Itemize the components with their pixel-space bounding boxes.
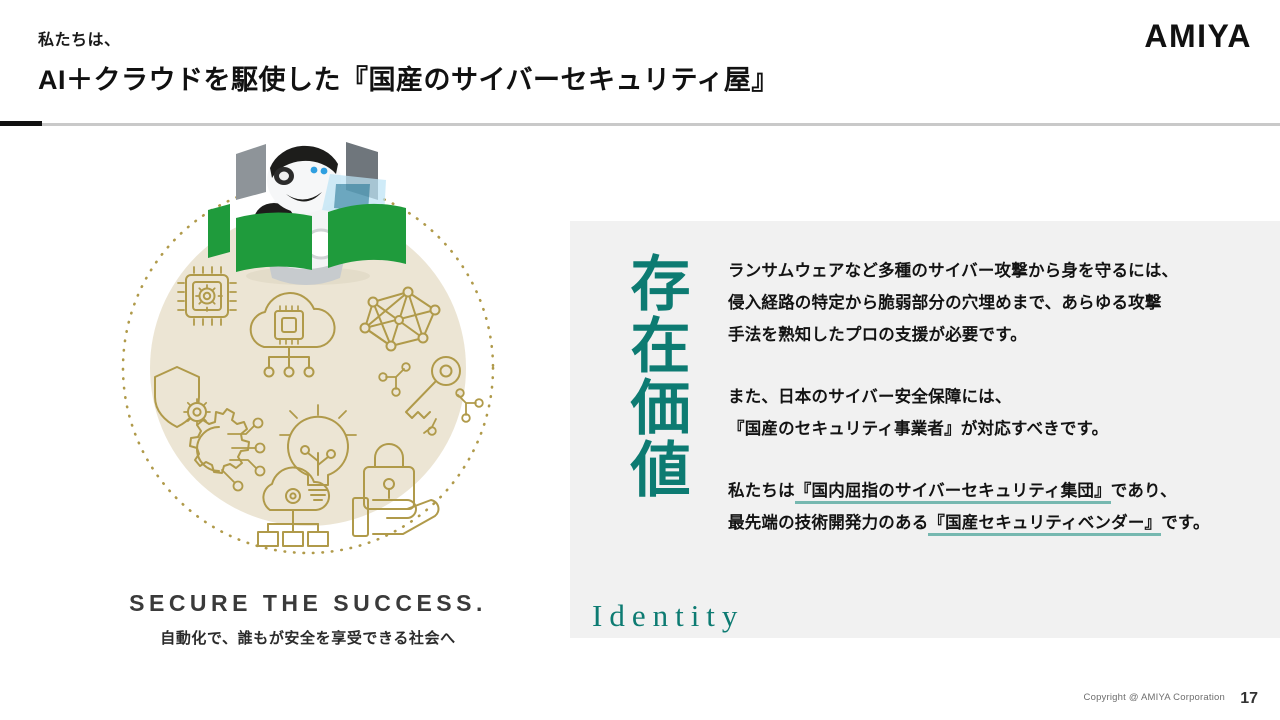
copy-text: 最先端の技術開発力のある — [728, 514, 928, 532]
panel-green-right — [328, 204, 406, 268]
header-divider — [0, 123, 1280, 126]
footer-copyright: Copyright @ AMIYA Corporation — [1084, 692, 1225, 703]
copy-line: 侵入経路の特定から脆弱部分の穴埋めまで、あらゆる攻撃 — [728, 294, 1162, 312]
copy-text-after: です。 — [1161, 514, 1209, 532]
tagline-sub: 自動化で、誰もが安全を享受できる社会へ — [108, 627, 508, 648]
identity-label: Identity — [592, 598, 744, 634]
copy-line: また、日本のサイバー安全保障には、 — [728, 388, 1012, 406]
copy-line-highlighted: 最先端の技術開発力のある『国産セキュリティベンダー』です。 — [728, 514, 1210, 536]
slide-root: 私たちは、 AI＋クラウドを駆使した『国産のサイバーセキュリティ屋』 AMIYA — [0, 0, 1280, 720]
paragraph-2: また、日本のサイバー安全保障には、 『国産のセキュリティ事業者』が対応すべきです… — [728, 381, 1253, 445]
amiya-logo: AMIYA — [1144, 20, 1252, 52]
highlight-phrase: 『国産セキュリティベンダー』 — [928, 514, 1161, 536]
copy-line-highlighted: 私たちは『国内屈指のサイバーセキュリティ集団』であり、 — [728, 482, 1177, 504]
ai-security-circle-illustration — [108, 140, 508, 560]
paragraph-3: 私たちは『国内屈指のサイバーセキュリティ集団』であり、 最先端の技術開発力のある… — [728, 475, 1253, 539]
copy-line: 『国産のセキュリティ事業者』が対応すべきです。 — [728, 420, 1108, 438]
paragraph-1: ランサムウェアなど多種のサイバー攻撃から身を守るには、 侵入経路の特定から脆弱部… — [728, 255, 1253, 351]
copy-text: 私たちは — [728, 482, 795, 500]
panel-gray-left — [236, 144, 266, 200]
copy-line: ランサムウェアなど多種のサイバー攻撃から身を守るには、 — [728, 262, 1178, 280]
header-divider-accent — [0, 121, 42, 126]
page-eyebrow: 私たちは、 — [38, 26, 121, 50]
panel-green-left — [208, 204, 230, 258]
copy-text-after: であり、 — [1111, 482, 1177, 500]
panel-green-center — [236, 212, 312, 272]
tagline-main: SECURE THE SUCCESS. — [108, 590, 508, 617]
identity-body-copy: ランサムウェアなど多種のサイバー攻撃から身を守るには、 侵入経路の特定から脆弱部… — [728, 255, 1253, 539]
page-title: AI＋クラウドを駆使した『国産のサイバーセキュリティ屋』 — [38, 58, 779, 97]
vertical-heading: 存在価値 — [615, 252, 685, 522]
page-number: 17 — [1240, 690, 1258, 708]
copy-line: 手法を熟知したプロの支援が必要です。 — [728, 326, 1027, 344]
highlight-phrase: 『国内屈指のサイバーセキュリティ集団』 — [795, 482, 1111, 504]
